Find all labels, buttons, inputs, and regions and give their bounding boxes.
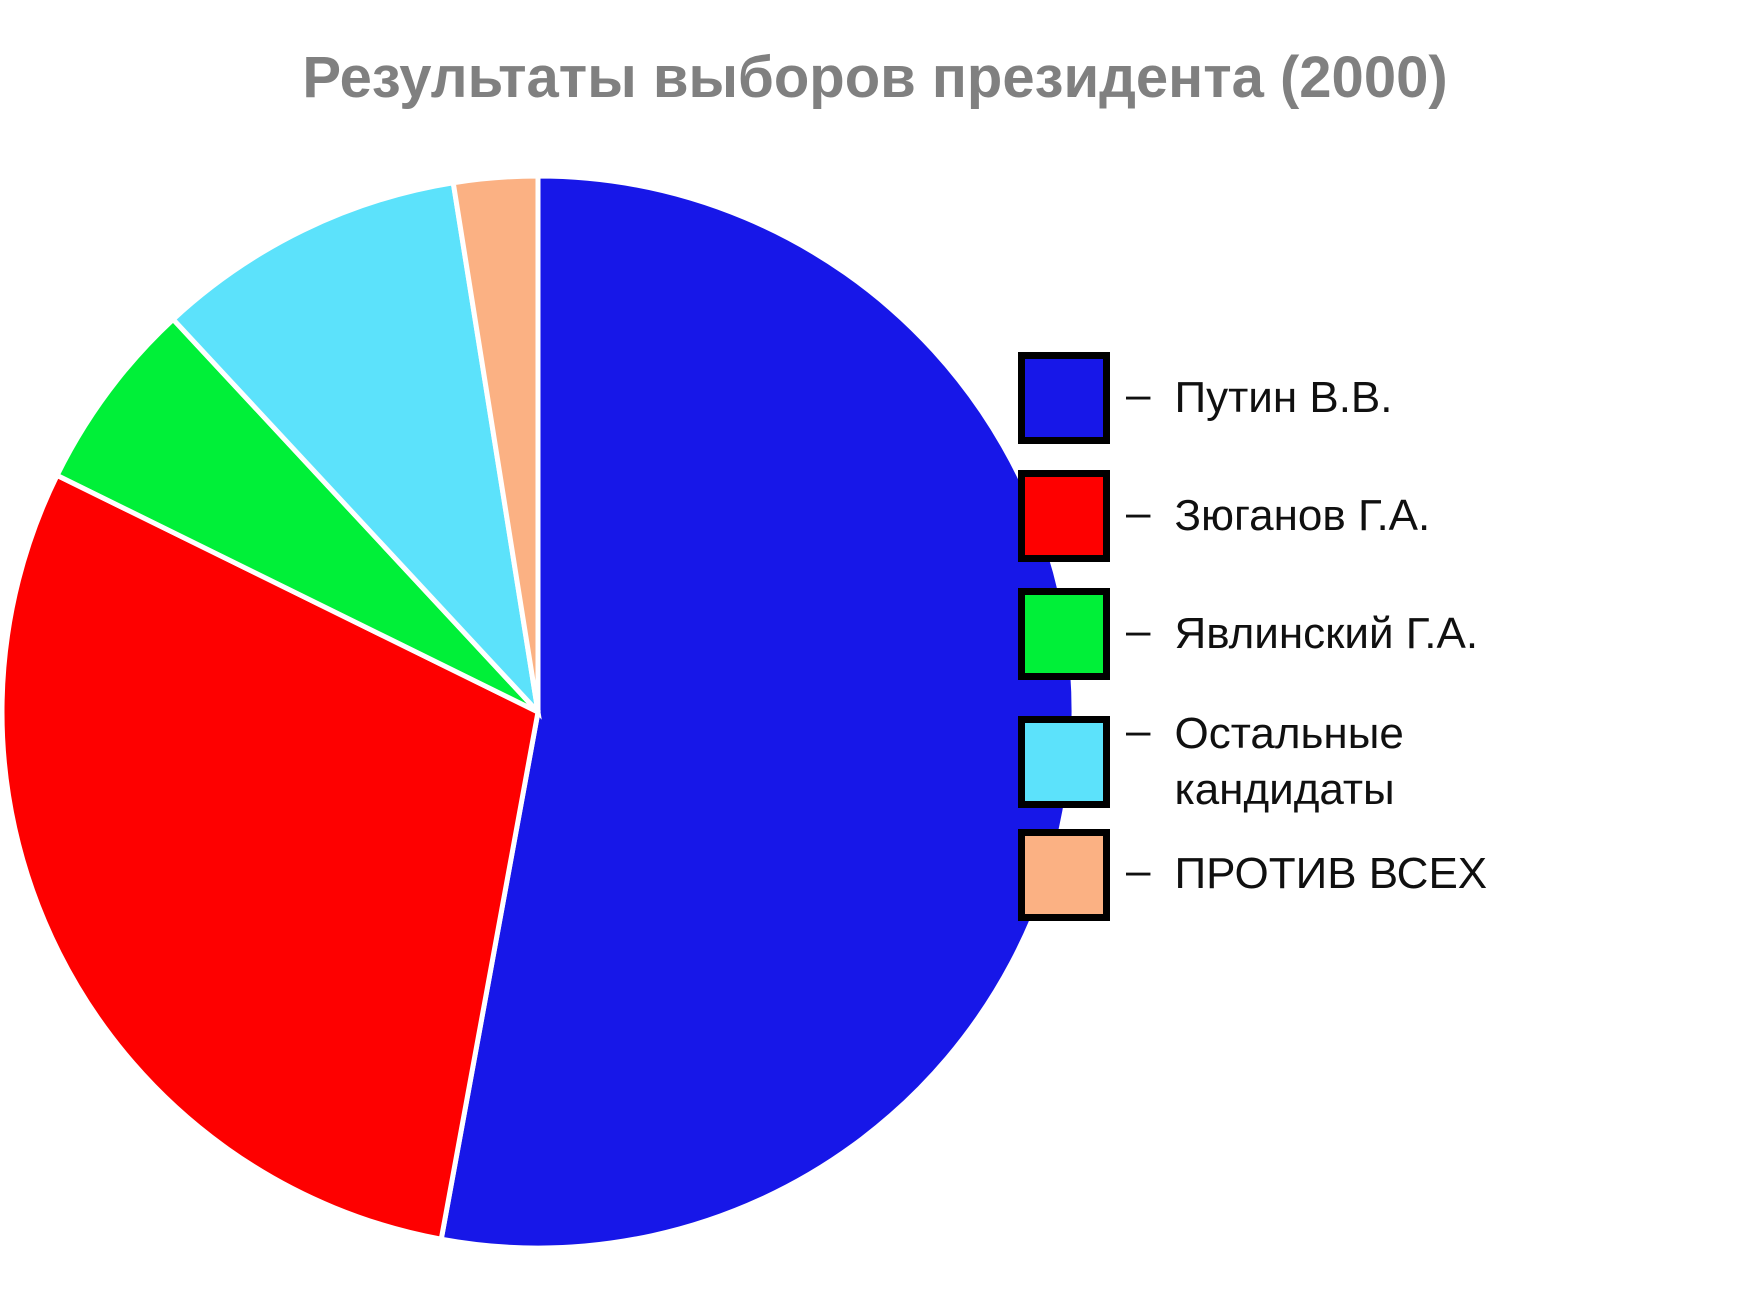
legend-swatch-putin <box>1018 352 1110 444</box>
legend-label-others: Остальные кандидаты <box>1174 706 1403 819</box>
legend-swatch-zyuganov <box>1018 470 1110 562</box>
legend-label-wrap-others: – Остальные кандидаты <box>1126 706 1404 819</box>
legend-item-others[interactable]: – Остальные кандидаты <box>1018 706 1718 819</box>
legend-dash-putin: – <box>1126 370 1150 420</box>
chart-title: Результаты выборов президента (2000) <box>0 44 1750 111</box>
chart-legend: – Путин В.В. – Зюганов Г.А. – Явлинский … <box>1018 352 1718 947</box>
legend-item-putin[interactable]: – Путин В.В. <box>1018 352 1718 444</box>
legend-swatch-against-all <box>1018 829 1110 921</box>
legend-label-wrap-putin: – Путин В.В. <box>1126 370 1393 426</box>
legend-swatch-others <box>1018 716 1110 808</box>
legend-label-wrap-yavlinsky: – Явлинский Г.А. <box>1126 606 1478 662</box>
legend-item-against-all[interactable]: – ПРОТИВ ВСЕХ <box>1018 829 1718 921</box>
legend-dash-others: – <box>1126 706 1150 756</box>
legend-swatch-yavlinsky <box>1018 588 1110 680</box>
pie-chart-svg <box>0 170 1085 1260</box>
legend-item-zyuganov[interactable]: – Зюганов Г.А. <box>1018 470 1718 562</box>
legend-label-wrap-against-all: – ПРОТИВ ВСЕХ <box>1126 846 1487 902</box>
pie-chart <box>0 170 1085 1260</box>
legend-label-wrap-zyuganov: – Зюганов Г.А. <box>1126 488 1430 544</box>
legend-dash-against-all: – <box>1126 846 1150 896</box>
legend-label-putin: Путин В.В. <box>1174 370 1392 426</box>
legend-label-against-all: ПРОТИВ ВСЕХ <box>1174 846 1487 902</box>
legend-label-zyuganov: Зюганов Г.А. <box>1174 488 1430 544</box>
legend-label-yavlinsky: Явлинский Г.А. <box>1174 606 1478 662</box>
pie-slices-group <box>2 176 1074 1248</box>
legend-dash-zyuganov: – <box>1126 488 1150 538</box>
legend-item-yavlinsky[interactable]: – Явлинский Г.А. <box>1018 588 1718 680</box>
legend-dash-yavlinsky: – <box>1126 606 1150 656</box>
slide-canvas: Результаты выборов президента (2000) – П… <box>0 0 1750 1300</box>
